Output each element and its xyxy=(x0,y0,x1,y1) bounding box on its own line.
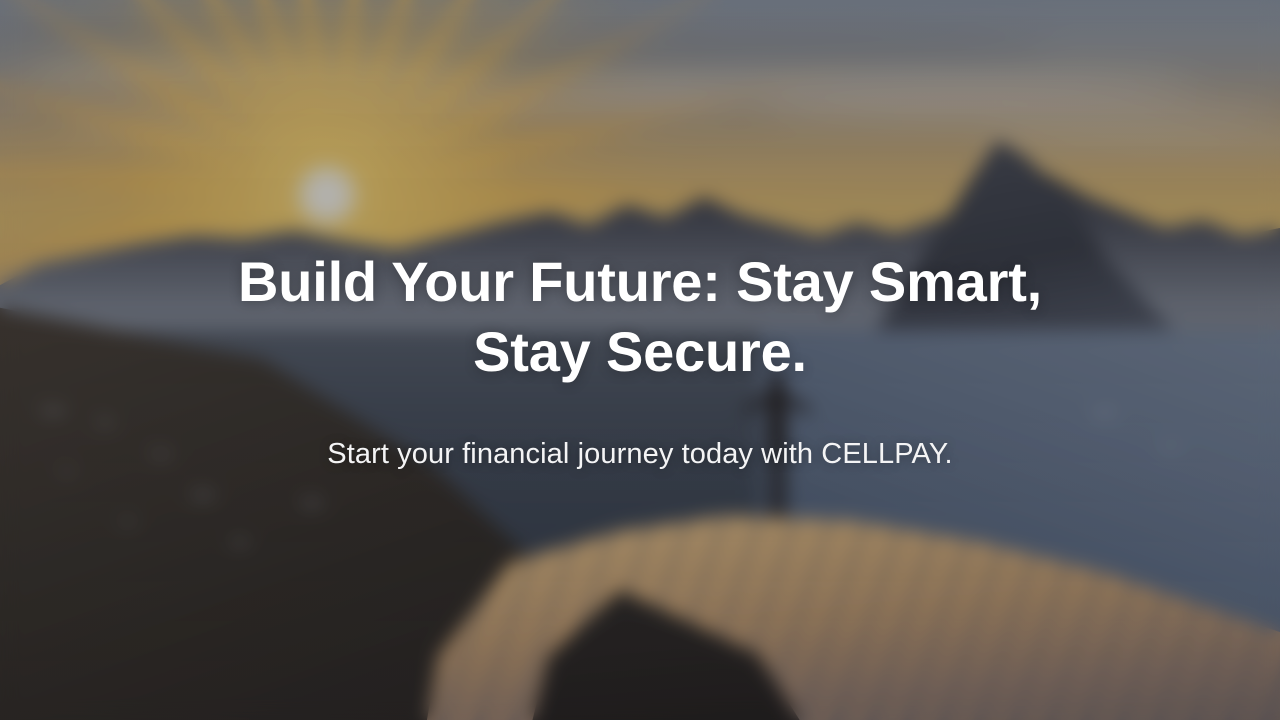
hero-subtitle: Start your financial journey today with … xyxy=(327,435,952,473)
hero-content: Build Your Future: Stay Smart, Stay Secu… xyxy=(0,0,1280,720)
hero-title: Build Your Future: Stay Smart, Stay Secu… xyxy=(190,247,1090,387)
hero-banner: Build Your Future: Stay Smart, Stay Secu… xyxy=(0,0,1280,720)
